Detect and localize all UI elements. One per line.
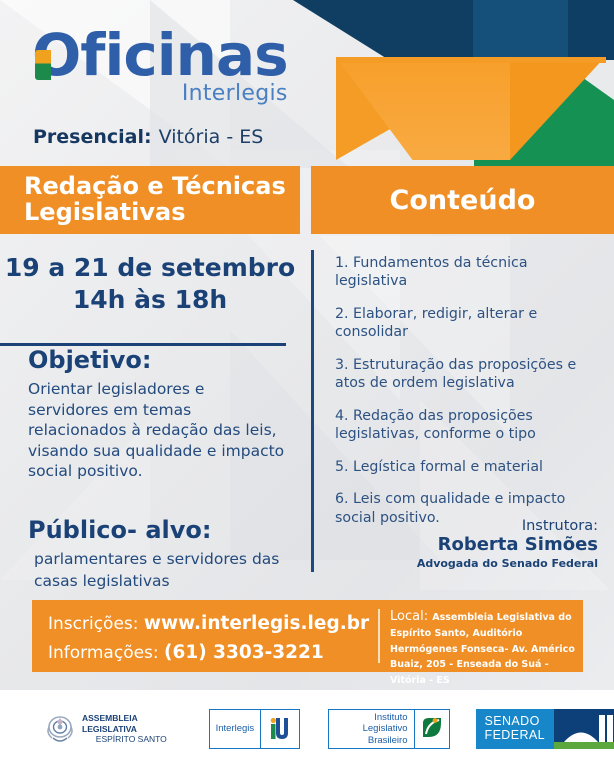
modality-value: Vitória - ES [159, 126, 264, 148]
ilb-mark-icon [414, 710, 449, 748]
registration-label: Inscrições: [48, 614, 139, 634]
schedule-block: 19 a 21 de setembro 14h às 18h [0, 240, 300, 316]
horizontal-divider [0, 343, 286, 346]
header-orange-slab [336, 57, 606, 63]
interlegis-logo: Interlegis [209, 709, 301, 749]
logo-mark-icon [35, 50, 51, 80]
instructor-label: Instrutora: [417, 518, 598, 534]
header-navy-far-right [568, 0, 614, 60]
congress-building-icon [554, 709, 614, 749]
senado-federal-logo: SENADO FEDERAL [476, 709, 614, 749]
header-navy-left-wedge [293, 0, 389, 60]
senado-wordmark: SENADO FEDERAL [476, 709, 554, 749]
ilb-line1: Instituto Legislativo [363, 712, 408, 734]
info-label: Informações: [48, 643, 159, 663]
schedule-time: 14h às 18h [0, 284, 300, 316]
ales-line2: ESPÍRITO SANTO [82, 734, 181, 744]
instructor-block: Instrutora: Roberta Simões Advogada do S… [417, 518, 598, 570]
header-orange-right-tri [510, 57, 605, 160]
oficinas-logo: Oficinas Interlegis [32, 28, 288, 106]
objective-block: Objetivo: Orientar legisladores e servid… [0, 346, 300, 482]
venue-info: Local: Assembleia Legislativa do Espírit… [390, 600, 583, 672]
list-item: 3. Estruturação das proposições e atos d… [335, 356, 600, 393]
vertical-divider [311, 250, 314, 572]
list-item: 2. Elaborar, redigir, alterar e consolid… [335, 305, 600, 342]
ales-wordmark: ASSEMBLEIA LEGISLATIVA ESPÍRITO SANTO [82, 713, 181, 744]
instructor-role: Advogada do Senado Federal [417, 557, 598, 570]
venue-line: Local: Assembleia Legislativa do Espírit… [390, 608, 575, 687]
ilb-line2: Brasileiro [368, 735, 408, 746]
logo-wordmark: Oficinas [32, 28, 288, 83]
venue-label: Local: [390, 609, 428, 624]
modality-line: Presencial:Vitória - ES [33, 126, 263, 148]
course-title-bar: Redação e Técnicas Legislativas [0, 166, 300, 234]
right-column: 1. Fundamentos da técnica legislativa 2.… [311, 240, 614, 541]
info-phone[interactable]: (61) 3303-3221 [164, 642, 324, 663]
header-navy-right-block [473, 0, 568, 60]
objective-text: Orientar legisladores e servidores em te… [28, 379, 288, 482]
content-title: Conteúdo [390, 185, 536, 216]
footer-separator [378, 609, 380, 663]
list-item: 4. Redação das proposições legislativas,… [335, 407, 600, 444]
audience-text: parlamentares e servidores das casas leg… [34, 549, 288, 592]
ales-logo: ASSEMBLEIA LEGISLATIVA ESPÍRITO SANTO [45, 713, 181, 745]
registration-box: Inscrições: www.interlegis.leg.br Inform… [32, 600, 583, 672]
content-title-bar: Conteúdo [311, 166, 614, 234]
interlegis-label: Interlegis [210, 710, 261, 748]
ales-line1: ASSEMBLEIA LEGISLATIVA [82, 713, 137, 733]
poster-root: Oficinas Interlegis Presencial:Vitória -… [0, 0, 614, 768]
content-list: 1. Fundamentos da técnica legislativa 2.… [311, 240, 614, 527]
interlegis-mark-icon [260, 710, 299, 748]
objective-heading: Objetivo: [28, 346, 288, 374]
info-phone-line: Informações: (61) 3303-3221 [48, 639, 378, 668]
ilb-label: Instituto Legislativo Brasileiro [329, 710, 413, 748]
registration-url-line: Inscrições: www.interlegis.leg.br [48, 610, 378, 639]
senado-line2: FEDERAL [485, 728, 545, 742]
modality-label: Presencial: [33, 126, 152, 148]
registration-contact: Inscrições: www.interlegis.leg.br Inform… [32, 600, 378, 672]
schedule-dates: 19 a 21 de setembro [0, 252, 300, 284]
list-item: 5. Legística formal e material [335, 458, 600, 476]
senado-line1: SENADO [485, 714, 540, 728]
list-item: 1. Fundamentos da técnica legislativa [335, 254, 600, 291]
ilb-logo: Instituto Legislativo Brasileiro [328, 709, 449, 749]
audience-heading: Público- alvo: [28, 516, 288, 544]
coat-of-arms-icon [45, 713, 75, 745]
left-column: 19 a 21 de setembro 14h às 18h Objetivo:… [0, 240, 300, 592]
audience-block: Público- alvo: parlamentares e servidore… [0, 516, 300, 592]
registration-url[interactable]: www.interlegis.leg.br [144, 613, 369, 634]
course-title: Redação e Técnicas Legislativas [24, 174, 300, 226]
instructor-name: Roberta Simões [417, 534, 598, 556]
partner-logo-row: ASSEMBLEIA LEGISLATIVA ESPÍRITO SANTO In… [0, 690, 614, 768]
